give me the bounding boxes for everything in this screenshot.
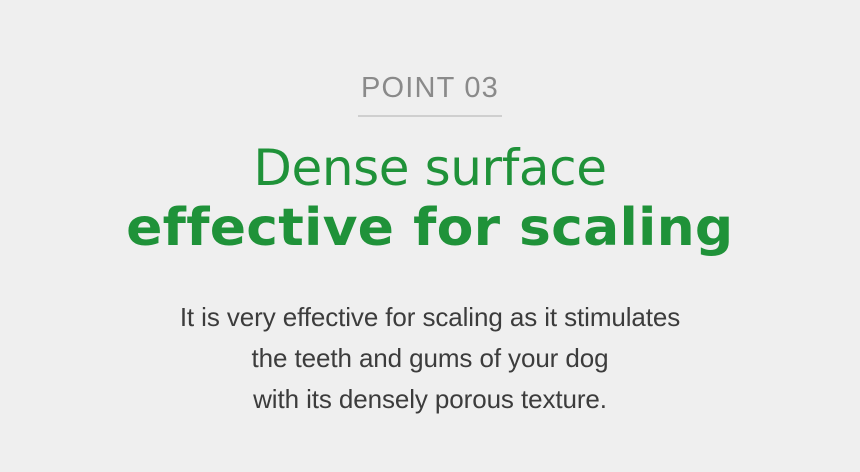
point-label: POINT 03 — [361, 74, 499, 103]
body-line-3: with its densely porous texture. — [180, 379, 680, 420]
eyebrow-block: POINT 03 — [358, 74, 502, 117]
headline-line-1: Dense surface — [135, 143, 725, 194]
body-line-1: It is very effective for scaling as it s… — [180, 297, 680, 338]
body-copy: It is very effective for scaling as it s… — [180, 297, 680, 420]
headline: Dense surface effective for scaling — [135, 143, 725, 255]
promo-slide: POINT 03 Dense surface effective for sca… — [0, 0, 860, 472]
eyebrow-divider — [358, 115, 502, 117]
body-line-2: the teeth and gums of your dog — [180, 338, 680, 379]
headline-line-2: effective for scaling — [126, 202, 733, 255]
